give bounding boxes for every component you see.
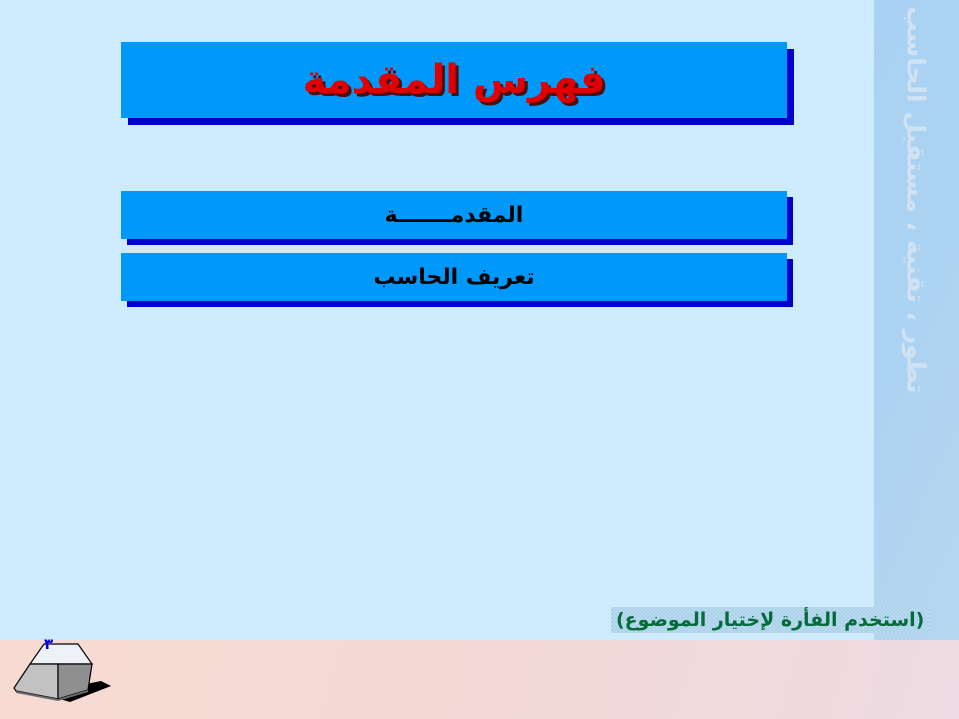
sidebar-watermark-text: تطور ، تقنية ، مستقبل الحاسب الآلي bbox=[902, 0, 931, 394]
mouse-hint-text: (استخدم الفأرة لإختيار الموضوع) bbox=[616, 609, 924, 631]
menu-item-introduction[interactable]: المقدمـــــــة bbox=[121, 191, 787, 239]
page-title: فهرس المقدمة bbox=[302, 57, 605, 103]
page-number: ٣ bbox=[44, 637, 53, 652]
slide-title-banner: فهرس المقدمة bbox=[121, 42, 787, 118]
slide-canvas: تطور ، تقنية ، مستقبل الحاسب الآلي فهرس … bbox=[0, 0, 959, 719]
menu-item-introduction-label: المقدمـــــــة bbox=[385, 203, 524, 228]
menu-item-computer-definition-label: تعريف الحاسب bbox=[373, 265, 534, 290]
sidebar-watermark-title: تطور ، تقنية ، مستقبل الحاسب الآلي bbox=[874, 0, 959, 640]
menu-item-computer-definition[interactable]: تعريف الحاسب bbox=[121, 253, 787, 301]
mouse-hint-banner: (استخدم الفأرة لإختيار الموضوع) bbox=[611, 607, 929, 633]
bottom-decorative-strip bbox=[0, 640, 959, 719]
keyboard-keycap-icon bbox=[4, 640, 124, 719]
